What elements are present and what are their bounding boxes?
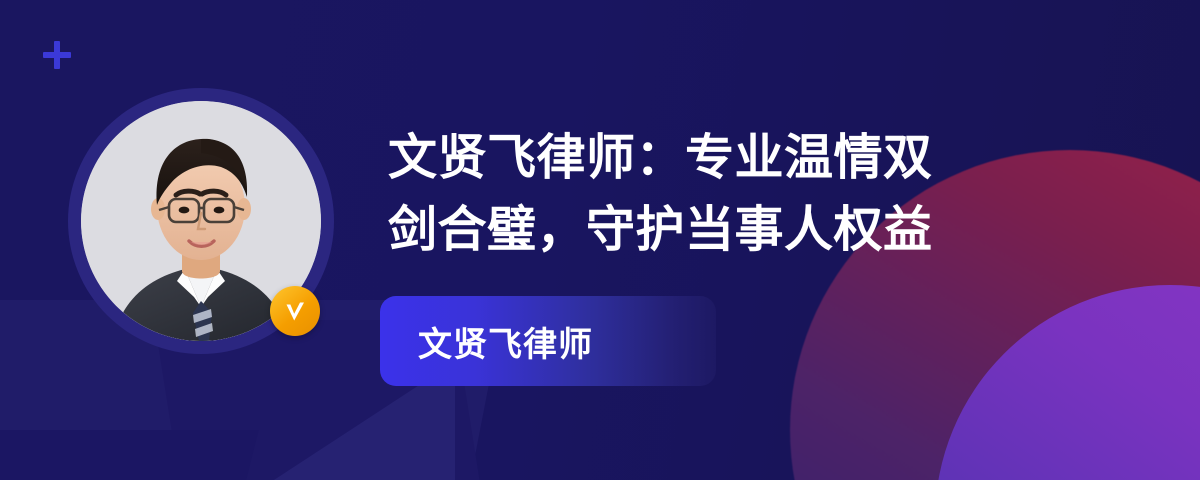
verified-badge-icon — [270, 286, 320, 336]
promo-banner: 文贤飞律师：专业温情双 剑合璧，守护当事人权益 文贤飞律师 — [0, 0, 1200, 480]
lawyer-name-button[interactable]: 文贤飞律师 — [380, 296, 716, 386]
avatar — [68, 88, 334, 354]
banner-content: 文贤飞律师：专业温情双 剑合璧，守护当事人权益 文贤飞律师 — [0, 0, 1200, 480]
plus-icon — [43, 41, 71, 69]
page-title: 文贤飞律师：专业温情双 剑合璧，守护当事人权益 — [388, 122, 1078, 266]
